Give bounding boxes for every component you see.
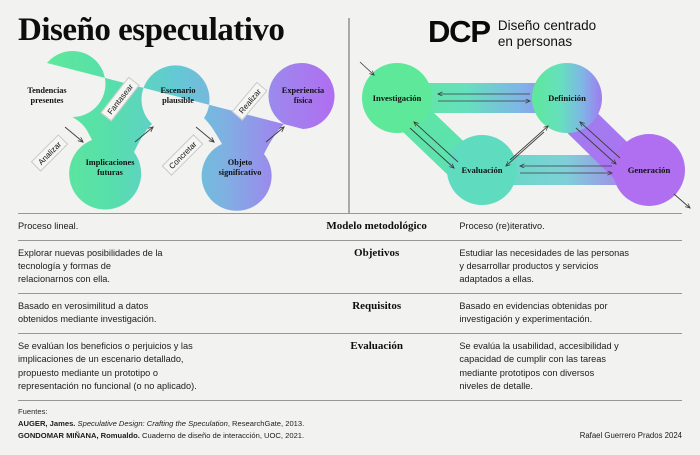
source-1-rest: , ResearchGate, 2013. [228,419,304,428]
diagram-speculative: Tendencias presentes Implicaciones futur… [0,58,348,210]
source-1-title: Speculative Design: Crafting the Specula… [78,419,228,428]
cell-middle: Objetivos [294,247,459,259]
cell-right: Se evalúa la usabilidad, accesibilidad y… [459,340,682,392]
svg-text:plausible: plausible [162,96,194,105]
blob-chain-speculative [47,51,335,211]
cell-left: Basado en verosimilitud a datos obtenido… [18,300,294,326]
table-row: Explorar nuevas posibilidades de la tecn… [18,240,682,293]
svg-text:física: física [294,96,313,105]
table-row: Se evalúan los beneficios o perjuicios y… [18,333,682,400]
blob-network-dcp [362,63,685,206]
page-title-speculative: Diseño especulativo [18,14,284,47]
svg-text:Escenario: Escenario [160,86,195,95]
cell-left: Explorar nuevas posibilidades de la tecn… [18,247,294,286]
cell-left: Se evalúan los beneficios o perjuicios y… [18,340,294,392]
source-entry-2: GONDOMAR MIÑANA, Romualdo. Cuaderno de d… [18,430,304,442]
table-row: Proceso lineal. Modelo metodológico Proc… [18,213,682,240]
table-row: Basado en verosimilitud a datos obtenido… [18,293,682,333]
source-1-author: AUGER, James. [18,419,75,428]
footer: Fuentes: AUGER, James. Speculative Desig… [18,406,682,441]
svg-text:Investigación: Investigación [373,93,422,103]
vertical-divider [348,18,350,214]
svg-text:significativo: significativo [219,168,262,177]
source-2-author: GONDOMAR MIÑANA, Romualdo. [18,431,140,440]
diagram-dcp: Investigación Definición Evaluación Gene… [352,58,700,210]
infographic-page: Diseño especulativo DCP Diseño centrado … [0,0,700,455]
cell-middle: Requisitos [294,300,459,312]
dcp-acronym: DCP [428,16,490,47]
svg-text:Generación: Generación [628,165,671,175]
svg-text:futuras: futuras [97,168,124,177]
svg-text:Definición: Definición [548,93,586,103]
svg-text:Tendencias: Tendencias [27,86,67,95]
cell-right: Basado en evidencias obtenidas por inves… [459,300,682,326]
source-2-rest: Cuaderno de diseño de interacción, UOC, … [140,431,304,440]
cell-right: Proceso (re)iterativo. [459,220,682,233]
svg-text:Implicaciones: Implicaciones [86,158,136,167]
cell-right: Estudiar las necesidades de las personas… [459,247,682,286]
svg-text:Objeto: Objeto [228,158,252,167]
svg-text:Experiencia: Experiencia [282,86,325,95]
svg-text:presentes: presentes [30,96,64,105]
source-entry-1: AUGER, James. Speculative Design: Crafti… [18,418,304,430]
credit-line: Rafael Guerrero Prados 2024 [580,431,682,441]
cell-middle: Modelo metodológico [294,220,459,232]
sources-label: Fuentes: [18,406,304,418]
dcp-subtitle: Diseño centrado en personas [498,16,596,50]
page-title-dcp-group: DCP Diseño centrado en personas [428,16,596,50]
cell-left: Proceso lineal. [18,220,294,233]
cell-middle: Evaluación [294,340,459,352]
comparison-table: Proceso lineal. Modelo metodológico Proc… [18,213,682,401]
sources-block: Fuentes: AUGER, James. Speculative Desig… [18,406,304,441]
svg-text:Evaluación: Evaluación [461,165,502,175]
